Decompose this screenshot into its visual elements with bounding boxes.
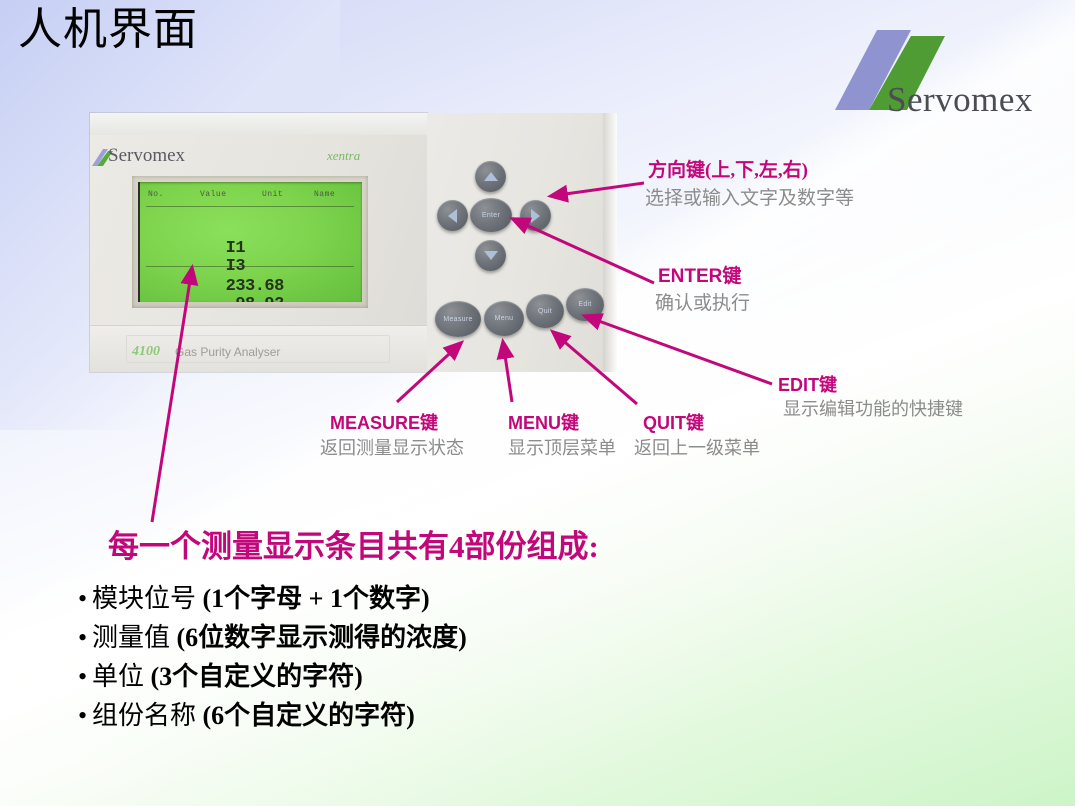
callout-menu-title: MENU键 — [508, 409, 579, 435]
down-arrow-icon — [484, 251, 498, 260]
callout-edit-title-cjk: 键 — [819, 375, 837, 395]
key-quit[interactable]: Quit — [526, 294, 564, 328]
analyser-model-description: Gas Purity Analyser — [175, 345, 280, 359]
up-arrow-icon — [484, 172, 498, 181]
lcd-header-unit: Unit — [262, 190, 283, 199]
callout-enter-sub: 确认或执行 — [655, 288, 750, 315]
summary-bullet-4-detail: (6个自定义的字符) — [203, 701, 415, 730]
summary-bullet-4: •组份名称 (6个自定义的字符) — [78, 695, 415, 732]
key-menu-label: Menu — [495, 315, 514, 322]
key-quit-label: Quit — [538, 308, 552, 315]
callout-menu-title-latin: MENU — [508, 413, 561, 433]
bullet-dot-icon: • — [78, 584, 92, 614]
callout-enter-title: ENTER键 — [658, 261, 741, 288]
callout-measure-sub: 返回测量显示状态 — [320, 434, 464, 460]
key-left-arrow[interactable] — [437, 200, 468, 231]
callout-quit-sub: 返回上一级菜单 — [634, 434, 760, 460]
key-down-arrow[interactable] — [475, 240, 506, 271]
key-up-arrow[interactable] — [475, 161, 506, 192]
callout-measure-title: MEASURE键 — [330, 409, 438, 435]
callout-direction-sub: 选择或输入文字及数字等 — [645, 183, 854, 210]
callout-measure-title-latin: MEASURE — [330, 413, 420, 433]
logo-wordmark: Servomex — [887, 80, 1033, 120]
analyser-top-bezel — [90, 113, 427, 136]
callout-menu-title-cjk: 键 — [561, 413, 579, 433]
summary-bullet-3-label: 单位 — [92, 662, 144, 691]
lcd-header-no: No. — [148, 190, 164, 199]
callout-quit-title-latin: QUIT — [643, 413, 686, 433]
lcd-bezel: No. Value Unit Name I1 233.68 ppm CO2 I3… — [132, 176, 368, 308]
key-enter-label: Enter — [482, 212, 500, 219]
summary-bullet-2: •测量值 (6位数字显示测得的浓度) — [78, 617, 467, 654]
summary-heading: 每一个测量显示条目共有4部份组成: — [108, 521, 599, 566]
callout-edit-title-latin: EDIT — [778, 375, 819, 395]
analyser-model-number: 4100 — [132, 344, 160, 360]
callout-edit-sub: 显示编辑功能的快捷键 — [783, 395, 963, 421]
left-arrow-icon — [448, 209, 457, 223]
summary-bullet-1-label: 模块位号 — [92, 584, 196, 613]
key-measure[interactable]: Measure — [435, 301, 481, 337]
lcd-header-name: Name — [314, 190, 335, 199]
lcd-header-value: Value — [200, 190, 227, 199]
key-measure-label: Measure — [443, 316, 472, 323]
summary-bullet-2-detail: (6位数字显示测得的浓度) — [177, 623, 467, 652]
lcd-row-2-value: 98.92 — [226, 295, 284, 302]
summary-bullet-3-detail: (3个自定义的字符) — [151, 662, 363, 691]
analyser-photo: Servomex xentra No. Value Unit Name I1 2… — [90, 113, 427, 372]
callout-direction-title: 方向键(上,下,左,右) — [648, 155, 808, 182]
key-menu[interactable]: Menu — [484, 301, 524, 336]
key-edit-label: Edit — [578, 301, 591, 308]
bullet-dot-icon: • — [78, 662, 92, 692]
summary-bullet-3: •单位 (3个自定义的字符) — [78, 656, 363, 693]
page-title: 人机界面 — [18, 6, 198, 54]
servomex-logo: Servomex — [815, 22, 1065, 127]
lcd-divider-top — [146, 206, 354, 207]
callout-menu-sub: 显示顶层菜单 — [508, 434, 616, 460]
analyser-range-label: xentra — [327, 148, 360, 164]
summary-bullet-1-detail: (1个字母 + 1个数字) — [203, 584, 430, 613]
lcd-row-2: I3 98.92 ppm N2O — [148, 238, 284, 302]
callout-quit-title: QUIT键 — [643, 409, 704, 435]
callout-enter-title-latin: ENTER — [658, 266, 722, 287]
bullet-dot-icon: • — [78, 701, 92, 731]
analyser-keypad-panel: Enter Measure Menu Quit Edit — [427, 113, 617, 372]
analyser-brand-label: Servomex — [108, 145, 185, 167]
key-right-arrow[interactable] — [520, 200, 551, 231]
summary-bullet-2-label: 测量值 — [92, 623, 170, 652]
key-edit[interactable]: Edit — [566, 288, 604, 321]
summary-bullet-4-label: 组份名称 — [92, 701, 196, 730]
callout-quit-title-cjk: 键 — [686, 413, 704, 433]
lcd-screen: No. Value Unit Name I1 233.68 ppm CO2 I3… — [138, 182, 362, 302]
callout-measure-title-cjk: 键 — [420, 413, 438, 433]
bullet-dot-icon: • — [78, 623, 92, 653]
key-enter[interactable]: Enter — [470, 198, 512, 232]
summary-bullet-1: •模块位号 (1个字母 + 1个数字) — [78, 578, 430, 615]
right-arrow-icon — [531, 209, 540, 223]
lcd-divider-bottom — [146, 266, 354, 267]
callout-edit-title: EDIT键 — [778, 371, 837, 397]
callout-enter-title-cjk: 键 — [722, 266, 741, 287]
